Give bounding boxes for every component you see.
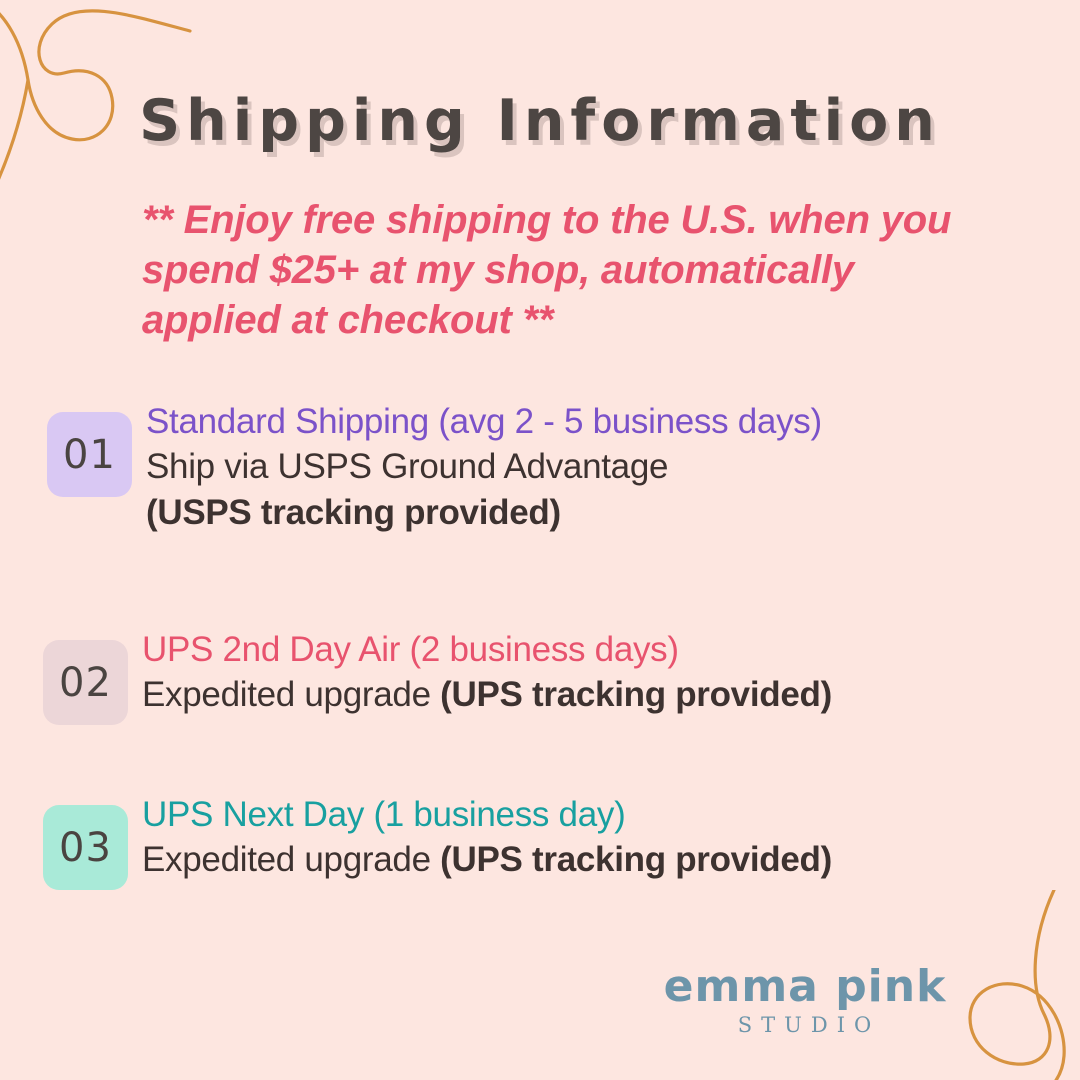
shipping-option-detail-03-normal: Expedited upgrade: [142, 840, 440, 879]
shipping-option-body-02: UPS 2nd Day Air (2 business days) Expedi…: [142, 628, 832, 718]
shipping-option-detail-01-line-1: Ship via USPS Ground Advantage: [146, 444, 822, 490]
shipping-option-body-03: UPS Next Day (1 business day) Expedited …: [142, 793, 832, 883]
shipping-option-detail-01-line-2: (USPS tracking provided): [146, 490, 822, 536]
brand-logo-name: emma pink: [640, 962, 970, 1012]
free-shipping-note: ** Enjoy free shipping to the U.S. when …: [142, 195, 982, 345]
shipping-information-graphic: Shipping Information ** Enjoy free shipp…: [0, 0, 1080, 1080]
free-shipping-note-line-3: applied at checkout **: [142, 295, 982, 345]
free-shipping-note-line-1: ** Enjoy free shipping to the U.S. when …: [142, 195, 982, 245]
shipping-option-title-02: UPS 2nd Day Air (2 business days): [142, 628, 832, 672]
shipping-option-detail-03: Expedited upgrade (UPS tracking provided…: [142, 837, 832, 883]
shipping-option-detail-02: Expedited upgrade (UPS tracking provided…: [142, 672, 832, 718]
page-title: Shipping Information: [0, 88, 1080, 154]
shipping-option-row: 02 UPS 2nd Day Air (2 business days) Exp…: [43, 628, 1080, 725]
brand-logo: emma pink STUDIO: [640, 962, 970, 1038]
shipping-option-body-01: Standard Shipping (avg 2 - 5 business da…: [146, 400, 822, 536]
shipping-option-row: 03 UPS Next Day (1 business day) Expedit…: [43, 793, 1080, 890]
shipping-option-badge-02: 02: [43, 640, 128, 725]
brand-logo-tagline: STUDIO: [640, 1012, 970, 1038]
shipping-option-title-03: UPS Next Day (1 business day): [142, 793, 832, 837]
shipping-option-badge-01: 01: [47, 412, 132, 497]
shipping-option-detail-02-bold: (UPS tracking provided): [440, 675, 832, 714]
shipping-options-list: 01 Standard Shipping (avg 2 - 5 business…: [0, 400, 1080, 890]
shipping-option-badge-03: 03: [43, 805, 128, 890]
spacer: [0, 536, 1080, 628]
shipping-option-detail-03-bold: (UPS tracking provided): [440, 840, 832, 879]
shipping-option-title-01: Standard Shipping (avg 2 - 5 business da…: [146, 400, 822, 444]
free-shipping-note-line-2: spend $25+ at my shop, automatically: [142, 245, 982, 295]
shipping-option-row: 01 Standard Shipping (avg 2 - 5 business…: [47, 400, 1080, 536]
spacer: [0, 725, 1080, 793]
shipping-option-detail-02-normal: Expedited upgrade: [142, 675, 440, 714]
